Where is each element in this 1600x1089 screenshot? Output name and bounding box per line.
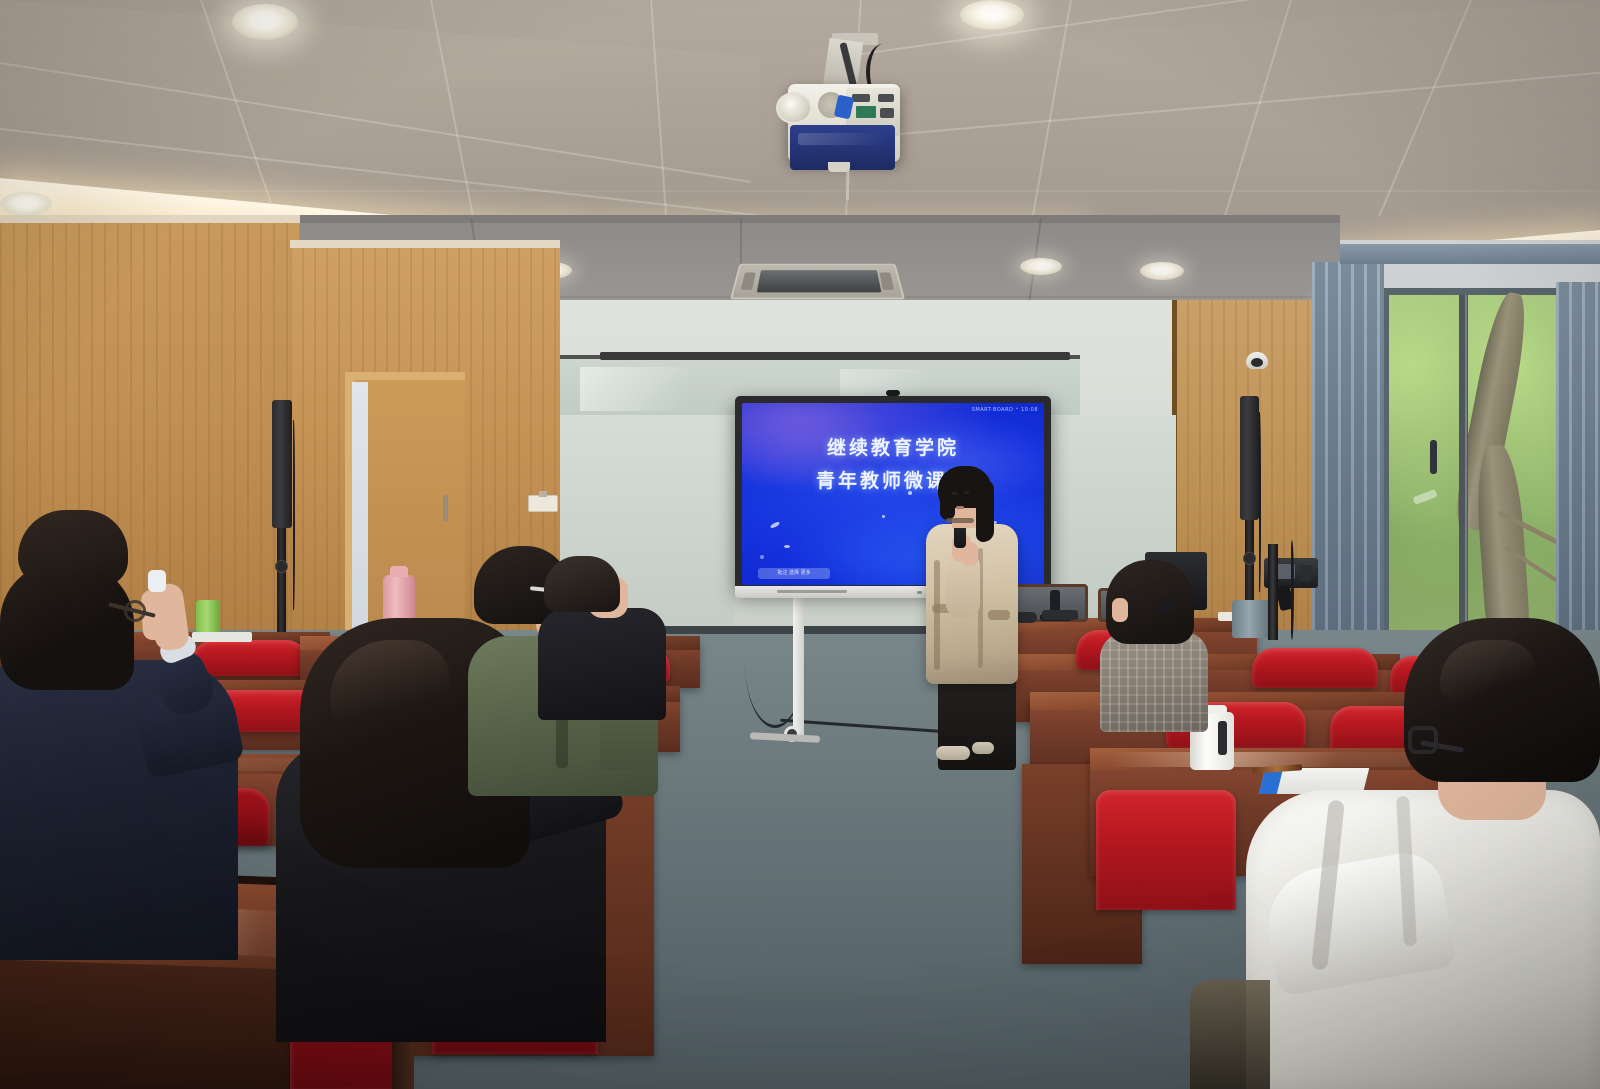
wall-cornice-left [0,215,300,223]
screen-particle [770,521,781,529]
speaker-stand-knob[interactable] [275,560,288,573]
window-mullion-highlight [1465,295,1467,653]
presenter-shoe [936,746,970,760]
eyeglass-lens [124,600,146,622]
column-speaker-right [1240,396,1259,520]
display-toolbar-button[interactable]: 批注 选择 更多 [758,568,830,579]
eyeglass-lens [1408,726,1438,754]
paper-sheet [192,632,252,642]
hair-highlight [1440,640,1536,704]
dome-camera-icon [1246,352,1268,369]
chair[interactable] [1096,790,1236,910]
podium-mouse[interactable] [1015,612,1037,623]
screen-particle [784,545,790,548]
speaker-cable-left [292,420,295,610]
attendee-blazer [1100,632,1208,732]
window-pane-left [1389,295,1459,653]
desk-cable [1042,610,1078,620]
jacket-pocket [988,610,1010,620]
chair[interactable] [192,640,308,676]
projector-port [880,108,894,118]
camera-cable [1290,540,1294,640]
ceiling-downlight [1020,258,1062,275]
attendee-hair [544,556,620,612]
tripod-leg [1268,544,1278,640]
display-led-indicator [917,591,922,594]
display-title-line1: 继续教育学院 [742,433,1044,460]
ceiling-downlight [1140,262,1184,280]
projector-port [878,94,894,102]
ceiling-downlight [0,192,52,216]
display-status-bar: SMART-BOARD ᛜ 10:08 [972,407,1038,413]
jacket-fold [934,560,940,670]
chair[interactable] [1252,648,1378,688]
door-handle[interactable] [443,495,448,521]
curtain-rail [1340,244,1600,264]
presenter-hair-back [976,480,994,542]
screen-particle [882,515,885,518]
ceiling-downlight [232,4,298,40]
camera-button[interactable] [1300,565,1311,572]
ac-grille [757,270,882,292]
ceiling-downlight [960,0,1024,30]
presenter-mouth [956,506,964,509]
ceiling-grid-line [0,190,1600,192]
chair-foreground-edge [1190,980,1270,1089]
wall-light-switch[interactable] [528,495,558,512]
wall-cornice-left-inner [290,240,560,248]
presenter-eye [964,491,969,494]
held-object[interactable] [148,570,166,592]
ac-vane [741,272,756,289]
projector-board-chip [856,106,876,118]
inner-ceiling-lip [300,215,1340,223]
speaker-stand-knob[interactable] [1243,552,1256,565]
ceiling-air-conditioner [730,264,905,300]
green-cup[interactable] [196,600,220,634]
column-speaker-left [272,400,292,528]
presenter-hair-side [940,478,955,520]
camera-button[interactable] [1300,575,1311,581]
presenter-necklace [946,518,974,523]
speaker-cable-right [1258,412,1261,592]
speaker-stand-left [277,528,286,640]
attendee-cheek [1112,598,1128,622]
projector-drop-cable [846,170,849,200]
display-stand-post [793,596,804,736]
attendee-hair-bun [18,510,128,586]
projector-port [852,94,870,102]
desk-sheen [1110,752,1410,767]
projector-lens [776,92,812,124]
display-title-line2: 青年教师微课堂 [742,466,1044,493]
presenter-eye [952,492,957,495]
waste-bin [1232,600,1270,638]
projection-screen-roller [600,352,1070,360]
screen-particle [760,555,764,559]
attendee-jacket [538,608,666,720]
display-brand-mark [777,590,847,593]
glass-sheen [580,367,760,411]
window-handle[interactable] [1430,440,1437,474]
classroom-photo-scene: SMART-BOARD ᛜ 10:08 继续教育学院 青年教师微课堂 批注 选择… [0,0,1600,1089]
projector-housing-sheen [798,133,886,145]
ac-vane [879,272,894,289]
presenter-shoe [972,742,994,754]
